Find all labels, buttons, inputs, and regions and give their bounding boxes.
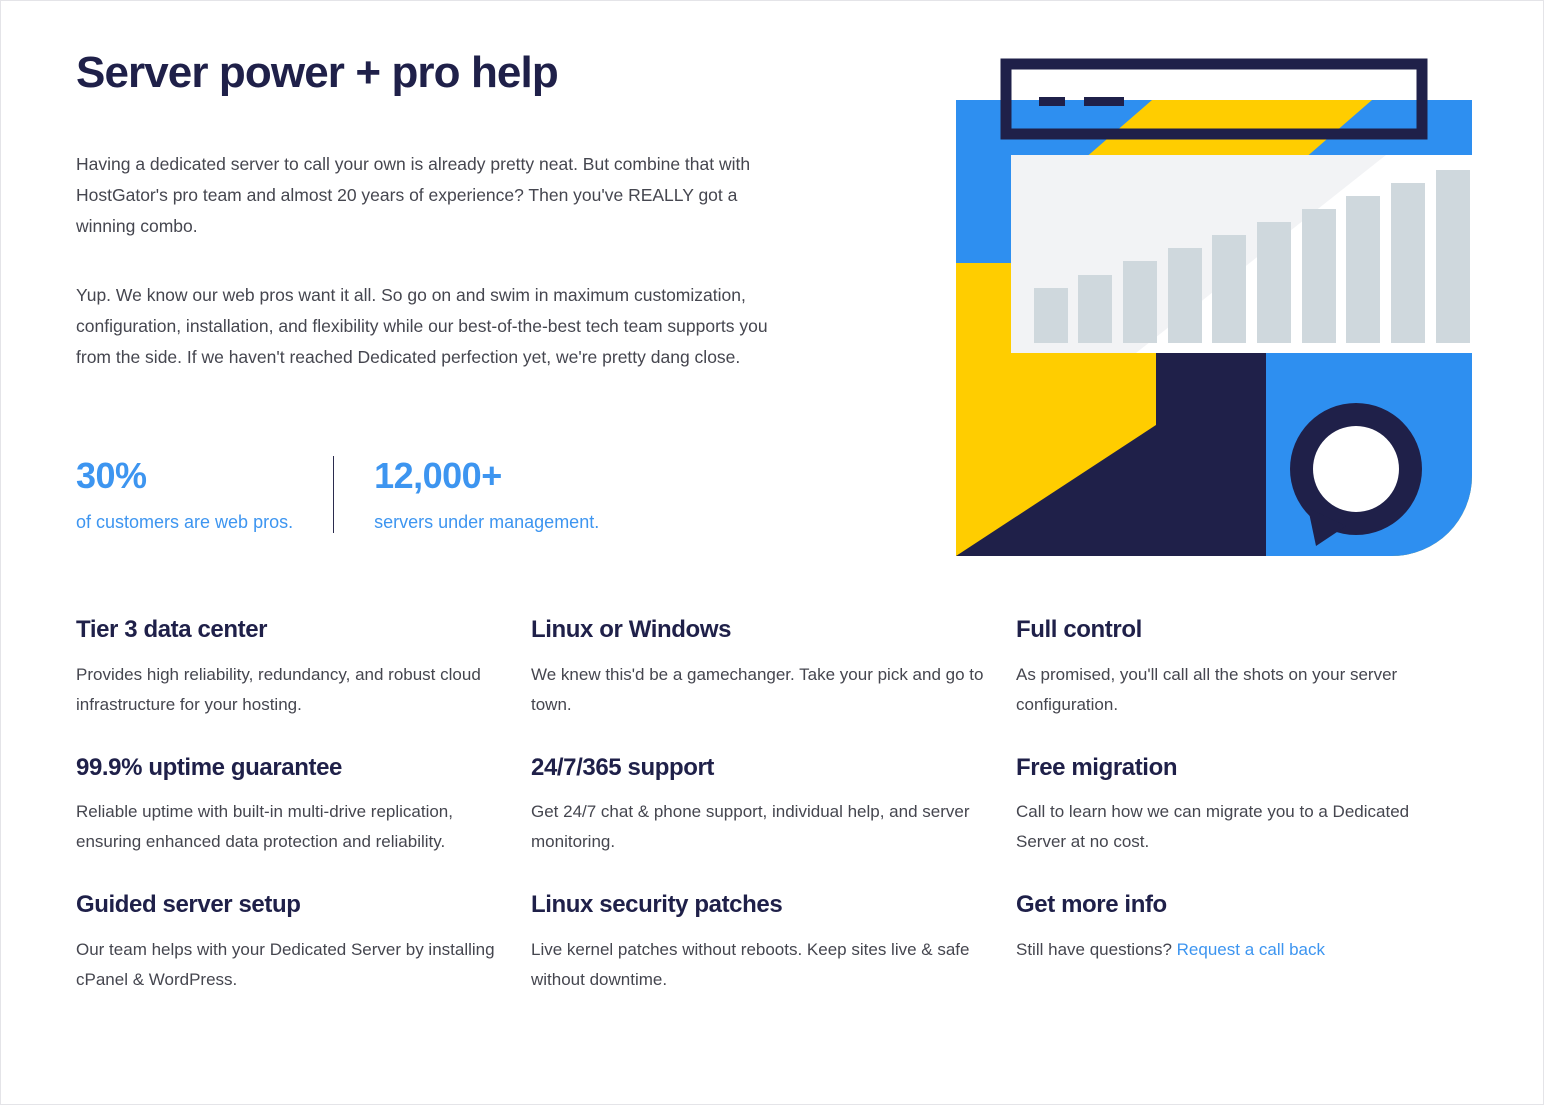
feature-description: Call to learn how we can migrate you to … (1016, 797, 1446, 857)
feature-linux-security-patches: Linux security patches Live kernel patch… (531, 891, 986, 995)
hero-section: Server power + pro help Having a dedicat… (1, 1, 1544, 601)
feature-get-more-info: Get more info Still have questions? Requ… (1016, 891, 1446, 965)
hero-paragraph-2: Yup. We know our web pros want it all. S… (76, 280, 776, 373)
stat-web-pros: 30% of customers are web pros. (76, 456, 333, 533)
feature-description: We knew this'd be a gamechanger. Take yo… (531, 660, 986, 720)
stat-label: of customers are web pros. (76, 512, 293, 534)
feature-column-one: Tier 3 data center Provides high reliabi… (76, 616, 531, 995)
chart-bar (1123, 261, 1157, 343)
hero-copy: Server power + pro help Having a dedicat… (76, 49, 836, 411)
feature-description: Reliable uptime with built-in multi-driv… (76, 797, 501, 857)
feature-full-control: Full control As promised, you'll call al… (1016, 616, 1446, 720)
feature-title: Free migration (1016, 754, 1446, 782)
illustration-card (956, 100, 1472, 556)
feature-column-two: Linux or Windows We knew this'd be a gam… (531, 616, 1016, 995)
stats-row: 30% of customers are web pros. 12,000+ s… (76, 456, 639, 533)
chart-bar (1436, 170, 1470, 343)
page-title: Server power + pro help (76, 49, 836, 97)
feature-description: Our team helps with your Dedicated Serve… (76, 935, 501, 995)
chart-bar (1034, 288, 1068, 343)
feature-free-migration: Free migration Call to learn how we can … (1016, 754, 1446, 858)
chart-bar (1302, 209, 1336, 343)
feature-description: Still have questions? Request a call bac… (1016, 935, 1446, 965)
bar-dash-icon (1084, 97, 1124, 106)
feature-title: 24/7/365 support (531, 754, 986, 782)
stat-servers-managed: 12,000+ servers under management. (333, 456, 639, 533)
chart-bar (1168, 248, 1202, 343)
stat-value: 30% (76, 456, 293, 496)
feature-title: Linux or Windows (531, 616, 986, 644)
feature-description: Provides high reliability, redundancy, a… (76, 660, 501, 720)
feature-description: Get 24/7 chat & phone support, individua… (531, 797, 986, 857)
chart-bar (1346, 196, 1380, 343)
chart-bar (1078, 275, 1112, 343)
feature-guided-server-setup: Guided server setup Our team helps with … (76, 891, 501, 995)
feature-column-three: Full control As promised, you'll call al… (1016, 616, 1476, 995)
feature-tier-3-data-center: Tier 3 data center Provides high reliabi… (76, 616, 501, 720)
feature-title: 99.9% uptime guarantee (76, 754, 501, 782)
server-dashboard-illustration (956, 56, 1472, 556)
feature-title: Full control (1016, 616, 1446, 644)
feature-description: Live kernel patches without reboots. Kee… (531, 935, 986, 995)
feature-description: As promised, you'll call all the shots o… (1016, 660, 1446, 720)
stat-label: servers under management. (374, 512, 599, 534)
bar-dash-icon (1039, 97, 1065, 106)
get-more-info-prefix: Still have questions? (1016, 940, 1177, 959)
chart-bar (1257, 222, 1291, 343)
feature-title: Tier 3 data center (76, 616, 501, 644)
chart-bar (1212, 235, 1246, 343)
feature-title: Guided server setup (76, 891, 501, 919)
features-section: Tier 3 data center Provides high reliabi… (76, 616, 1476, 995)
feature-linux-or-windows: Linux or Windows We knew this'd be a gam… (531, 616, 986, 720)
hero-paragraph-1: Having a dedicated server to call your o… (76, 149, 776, 242)
stat-value: 12,000+ (374, 456, 599, 496)
feature-title: Get more info (1016, 891, 1446, 919)
landing-page: Server power + pro help Having a dedicat… (0, 0, 1544, 1105)
illustration-svg (956, 56, 1472, 556)
card-navy-block (1156, 353, 1266, 556)
feature-247365-support: 24/7/365 support Get 24/7 chat & phone s… (531, 754, 986, 858)
feature-uptime-guarantee: 99.9% uptime guarantee Reliable uptime w… (76, 754, 501, 858)
chart-bar (1391, 183, 1425, 343)
request-a-call-back-link[interactable]: Request a call back (1177, 940, 1325, 959)
feature-title: Linux security patches (531, 891, 986, 919)
